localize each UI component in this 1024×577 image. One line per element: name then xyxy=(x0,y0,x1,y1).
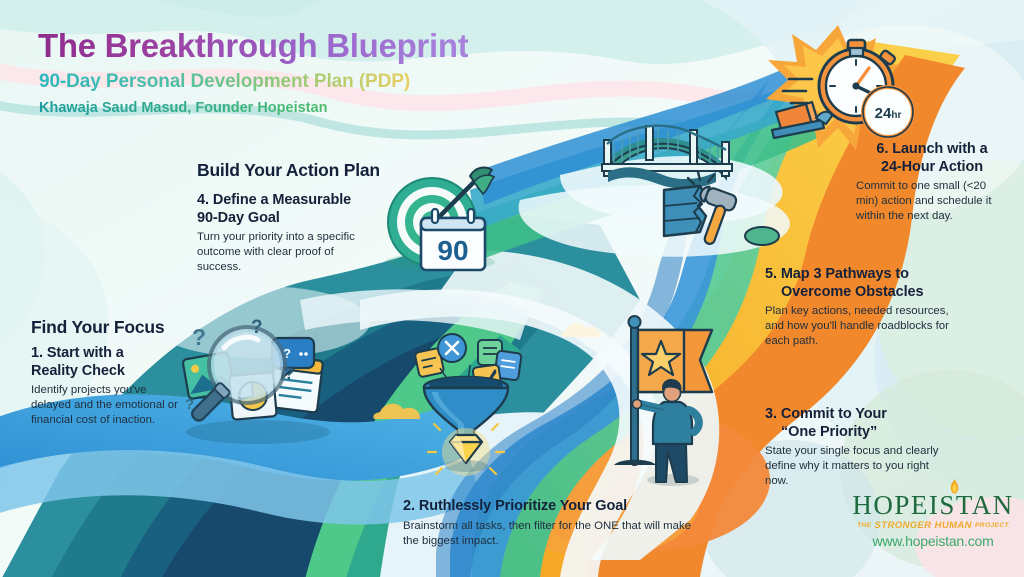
logo-name-text: HOPEISTAN xyxy=(852,490,1013,520)
step-3-heading-line1: 3. Commit to Your xyxy=(765,406,887,422)
hopeistan-logo[interactable]: HOPEISTAN THE STRONGER HUMAN PROJECT www… xyxy=(848,492,1018,549)
page-subtitle: 90-Day Personal Development Plan (PDP) xyxy=(39,71,410,93)
infographic-canvas: ? ? ? ? ? xyxy=(0,0,1024,577)
step-5-body: Plan key actions, needed resources, and … xyxy=(765,304,960,349)
bridge-hammer-icon xyxy=(602,126,779,248)
logo-tagline-main: STRONGER HUMAN xyxy=(875,520,972,531)
logo-tagline: THE STRONGER HUMAN PROJECT xyxy=(848,520,1018,531)
step-3: 3. Commit to Your “One Priority” State y… xyxy=(765,406,945,490)
section-heading-build-your-action-plan: Build Your Action Plan xyxy=(197,160,380,181)
step-6-heading-line1: 6. Launch with a xyxy=(876,141,987,157)
logo-tagline-project: PROJECT xyxy=(975,522,1009,529)
step-3-body: State your single focus and clearly defi… xyxy=(765,444,945,489)
step-1-body: Identify projects you've delayed and the… xyxy=(31,383,181,428)
step-6-heading-line2: 24-Hour Action xyxy=(881,159,983,175)
svg-text:?: ? xyxy=(185,396,194,413)
svg-text:?: ? xyxy=(284,364,294,383)
flag-person-icon xyxy=(614,316,712,486)
step-4-heading-line2: 90-Day Goal xyxy=(197,210,280,226)
page-title: The Breakthrough Blueprint xyxy=(38,27,468,65)
step-5: 5. Map 3 Pathways to Overcome Obstacles … xyxy=(765,266,960,350)
step-6-body: Commit to one small (<20 min) action and… xyxy=(856,179,1008,224)
step-5-heading-line2: Overcome Obstacles xyxy=(765,284,923,302)
step-6: 6. Launch with a 24-Hour Action Commit t… xyxy=(856,141,1008,225)
logo-tagline-the: THE xyxy=(857,522,871,529)
funnel-icon xyxy=(415,334,522,476)
svg-text:?: ? xyxy=(251,317,263,338)
logo-website-url[interactable]: www.hopeistan.com xyxy=(848,533,1018,549)
step-5-heading-line1: 5. Map 3 Pathways to xyxy=(765,266,909,282)
magnifying-glass-icon: ? ? ? ? ? xyxy=(182,317,330,444)
svg-text:?: ? xyxy=(192,324,206,350)
stopwatch-icon: 24hr xyxy=(766,25,913,150)
step-5-heading: 5. Map 3 Pathways to Overcome Obstacles xyxy=(765,266,960,301)
step-4-body: Turn your priority into a specific outco… xyxy=(197,230,377,275)
step-6-heading: 6. Launch with a 24-Hour Action xyxy=(856,141,1008,176)
step-3-heading-line2: “One Priority” xyxy=(765,424,877,442)
step-4-heading-line1: 4. Define a Measurable xyxy=(197,192,351,208)
logo-wordmark: HOPEISTAN xyxy=(852,492,1013,519)
section-heading-find-your-focus: Find Your Focus xyxy=(31,317,164,338)
step-1-heading-line1: 1. Start with a xyxy=(31,345,124,361)
step-2: 2. Ruthlessly Prioritize Your Goal Brain… xyxy=(403,498,693,549)
step-3-heading: 3. Commit to Your “One Priority” xyxy=(765,406,945,441)
flame-icon xyxy=(950,479,959,494)
step-1: 1. Start with a Reality Check Identify p… xyxy=(31,345,181,429)
step-4: 4. Define a Measurable 90-Day Goal Turn … xyxy=(197,192,377,276)
step-2-heading: 2. Ruthlessly Prioritize Your Goal xyxy=(403,498,693,516)
step-1-heading: 1. Start with a Reality Check xyxy=(31,345,181,380)
page-byline: Khawaja Saud Masud, Founder Hopeistan xyxy=(39,100,327,116)
calendar-number: 90 xyxy=(437,235,468,266)
step-2-body: Brainstorm all tasks, then filter for th… xyxy=(403,519,693,549)
target-calendar-icon: 90 xyxy=(385,168,495,271)
step-4-heading: 4. Define a Measurable 90-Day Goal xyxy=(197,192,377,227)
step-1-heading-line2: Reality Check xyxy=(31,363,125,379)
